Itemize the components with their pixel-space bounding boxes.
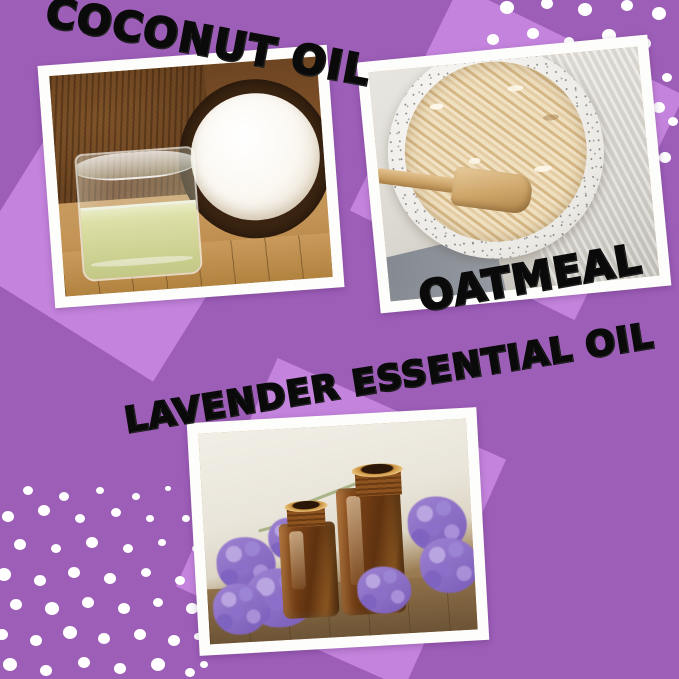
decorative-dot	[662, 73, 672, 82]
decorative-dot	[3, 658, 17, 671]
decorative-dot	[182, 515, 190, 522]
decorative-dot	[63, 626, 77, 639]
decorative-dot	[75, 514, 85, 523]
decorative-dot	[141, 568, 151, 577]
decorative-dot	[132, 493, 140, 500]
decorative-dot	[578, 3, 592, 16]
jar-rim	[74, 147, 198, 183]
decorative-dot	[78, 657, 90, 668]
decorative-dot	[23, 486, 33, 495]
decorative-dot	[200, 661, 208, 668]
decorative-dot	[30, 635, 42, 646]
decorative-dot	[98, 633, 110, 644]
decorative-dot	[34, 575, 46, 586]
decorative-dot	[96, 487, 104, 494]
decorative-dot	[621, 0, 633, 11]
ceramic-bowl	[378, 47, 613, 269]
decorative-dot	[146, 515, 154, 522]
glass-jar	[74, 145, 204, 282]
decorative-dot	[185, 668, 195, 677]
bottle-highlight	[289, 531, 306, 591]
photo-coconut-oil	[49, 56, 332, 296]
decorative-dot	[68, 567, 80, 578]
decorative-dot	[175, 576, 185, 585]
decorative-dot	[653, 102, 665, 113]
decorative-dot	[45, 602, 59, 615]
decorative-dot	[527, 28, 539, 39]
decorative-dot	[0, 568, 11, 581]
amber-bottle-short	[279, 521, 340, 619]
decorative-dot	[82, 597, 94, 608]
decorative-dot	[541, 0, 553, 9]
decorative-dot	[51, 544, 61, 553]
decorative-dot	[40, 665, 52, 676]
photo-frame-coconut-oil	[37, 45, 344, 309]
decorative-dot	[652, 7, 666, 20]
decorative-dot	[104, 573, 116, 584]
decorative-dot	[500, 1, 514, 14]
dot-field-bottom-left	[0, 489, 210, 679]
decorative-dot	[2, 511, 14, 522]
coconut-oil-liquid	[80, 199, 202, 279]
decorative-dot	[0, 629, 8, 640]
decorative-dot	[151, 658, 165, 671]
coconut-flesh	[187, 89, 324, 225]
decorative-dot	[123, 544, 133, 553]
decorative-dot	[158, 539, 166, 546]
decorative-dot	[134, 629, 146, 640]
collage-canvas: COCONUT OIL OATMEAL LAVENDER ESSENTIAL O…	[0, 0, 679, 679]
decorative-dot	[168, 635, 180, 646]
photo-frame-lavender-essential-oil	[187, 407, 490, 656]
decorative-dot	[10, 599, 22, 610]
decorative-dot	[165, 486, 171, 491]
decorative-dot	[86, 537, 98, 548]
rolled-oats	[397, 53, 595, 249]
decorative-dot	[487, 34, 499, 45]
decorative-dot	[668, 117, 678, 126]
decorative-dot	[14, 539, 26, 550]
photo-lavender-essential-oil	[198, 419, 477, 645]
bottle-highlight	[346, 496, 365, 585]
decorative-dot	[59, 492, 69, 501]
decorative-dot	[38, 505, 50, 516]
decorative-dot	[114, 663, 126, 674]
decorative-dot	[118, 603, 130, 614]
decorative-dot	[153, 598, 163, 607]
decorative-dot	[111, 508, 121, 517]
decorative-dot	[659, 152, 671, 163]
